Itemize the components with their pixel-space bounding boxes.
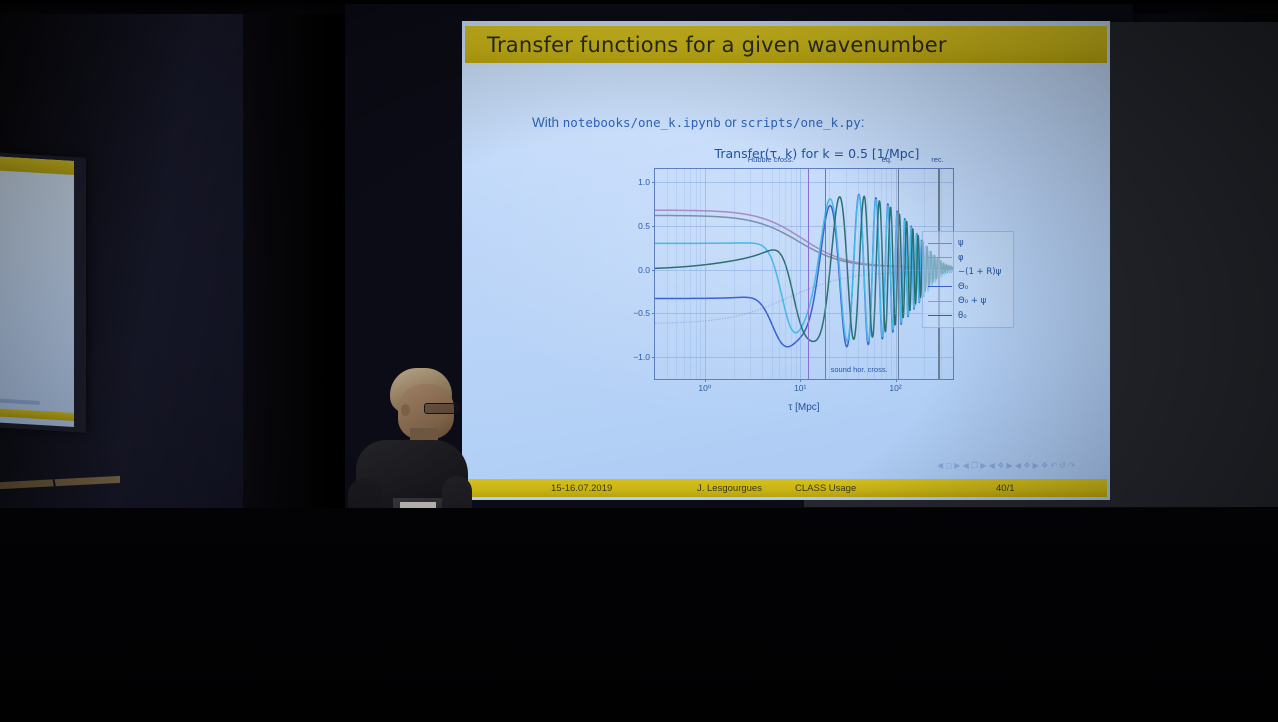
chart-annotation-label: Hubble cross. [748,155,794,164]
subtitle-prefix: With [532,115,563,130]
chart-annotation-label: sound hor. cross. [831,365,888,374]
chart-gridline-minor [667,169,668,379]
chart-gridline-minor [690,169,691,379]
chart-xlabel: τ [Mpc] [654,402,954,413]
chart-ytick-label: 0.5 [638,221,650,231]
notebook-path: notebooks/one_k.ipynb [563,115,721,130]
glasses-icon [424,403,459,414]
chart-ytick-mark [652,313,655,314]
legend-item[interactable]: Θ₀ [928,280,1008,295]
chart-gridline-minor [700,169,701,379]
chart-ytick-label: −0.5 [633,308,650,318]
chart-gridline-minor [867,169,868,379]
legend-item[interactable]: ψ [928,236,1008,251]
legend-label: Θ₀ [958,282,968,292]
chart-xtick-label: 10¹ [794,383,806,393]
chart-ytick-label: −1.0 [633,352,650,362]
footer-page: 40/1 [996,483,1015,494]
beamer-navigation-bar[interactable]: ◀ ◻ ▶ ◀ ❐ ▶ ◀ ❖ ▶ ◀ ❖ ▶ ❖ ↶ ↺ ↷ [860,459,1075,471]
legend-label: −(1 + R)ψ [958,267,1001,277]
chart-gridline-minor [750,169,751,379]
script-path: scripts/one_k.py [740,115,860,130]
chart-ytick-mark [652,182,655,183]
presenter-ear [401,404,410,416]
legend-swatch [928,286,952,287]
chart-xtick-mark [896,379,897,382]
legend-swatch [928,301,952,302]
chart-gridline-minor [696,169,697,379]
legend-item[interactable]: Θ₀ + ψ [928,294,1008,309]
chart-ytick-mark [652,226,655,227]
chart-xtick-mark [705,379,706,382]
chart-gridline-minor [684,169,685,379]
chart-gridline-minor [791,169,792,379]
legend-label: θ₀ [958,311,967,321]
chart-gridline-minor [772,169,773,379]
presentation-slide: Transfer functions for a given wavenumbe… [462,21,1110,500]
chart-annotation-label: eq. [882,155,892,164]
chart-gridline-minor [829,169,830,379]
legend-label: Θ₀ + ψ [958,296,986,306]
slide-title: Transfer functions for a given wavenumbe… [487,33,947,57]
transfer-function-plot: Transfer(τ, k) for k = 0.5 [1/Mpc] 1.00.… [602,146,1032,421]
chart-event-line [808,169,809,379]
legend-swatch [928,243,952,244]
chart-plot-area: 1.00.50.0−0.5−1.010⁰10¹10²Hubble cross.s… [654,168,954,380]
chart-gridline-minor [874,169,875,379]
side-monitor-title-bar [0,156,74,175]
slide-subtitle: With notebooks/one_k.ipynb or scripts/on… [532,115,865,130]
side-monitor [0,152,86,432]
legend-item[interactable]: φ [928,251,1008,266]
chart-gridline-minor [891,169,892,379]
chart-title: Transfer(τ, k) for k = 0.5 [1/Mpc] [602,146,1032,161]
room-floor [0,508,1278,722]
chart-xtick-label: 10² [889,383,901,393]
chart-gridline-vertical [800,169,801,379]
chart-gridline-minor [886,169,887,379]
chart-gridline-minor [796,169,797,379]
slide-title-bar: Transfer functions for a given wavenumbe… [465,26,1107,63]
legend-item[interactable]: −(1 + R)ψ [928,265,1008,280]
chart-event-line [825,169,826,379]
side-monitor-content [0,399,40,405]
chart-gridline-minor [734,169,735,379]
chart-gridline-minor [779,169,780,379]
subtitle-suffix: : [861,115,865,130]
legend-label: ψ [958,238,964,248]
navigation-symbols[interactable]: ◀ ◻ ▶ ◀ ❐ ▶ ◀ ❖ ▶ ◀ ❖ ▶ ❖ ↶ ↺ ↷ [937,461,1075,470]
chart-ytick-label: 0.0 [638,265,650,275]
chart-gridline-minor [762,169,763,379]
footer-author: J. Lesgourgues [697,483,762,494]
subtitle-middle: or [721,115,741,130]
chart-gridline-minor [881,169,882,379]
chart-ytick-mark [652,357,655,358]
chart-ytick-label: 1.0 [638,177,650,187]
chart-xtick-label: 10⁰ [698,383,711,394]
side-monitor-screen [0,156,74,427]
chart-gridline-vertical [705,169,706,379]
chart-xtick-mark [800,379,801,382]
chart-event-line [898,169,899,379]
legend-label: φ [958,253,964,263]
lecture-room-scene: Transfer functions for a given wavenumbe… [0,0,1278,722]
chart-gridline-minor [676,169,677,379]
legend-swatch [928,257,952,258]
footer-date: 15-16.07.2019 [551,483,612,494]
footer-section: CLASS Usage [795,483,856,494]
legend-swatch [928,272,952,273]
chart-ytick-mark [652,270,655,271]
chart-annotation-label: rec. [931,155,944,164]
chart-gridline-minor [858,169,859,379]
side-monitor-footer-bar [0,408,74,421]
chart-gridline-vertical [896,169,897,379]
chart-legend: ψφ−(1 + R)ψΘ₀Θ₀ + ψθ₀ [922,231,1014,328]
chart-gridline-minor [785,169,786,379]
slide-footer-bar: 15-16.07.2019 J. Lesgourgues CLASS Usage… [465,479,1107,497]
legend-swatch [928,315,952,316]
chart-gridline-minor [846,169,847,379]
legend-item[interactable]: θ₀ [928,309,1008,324]
